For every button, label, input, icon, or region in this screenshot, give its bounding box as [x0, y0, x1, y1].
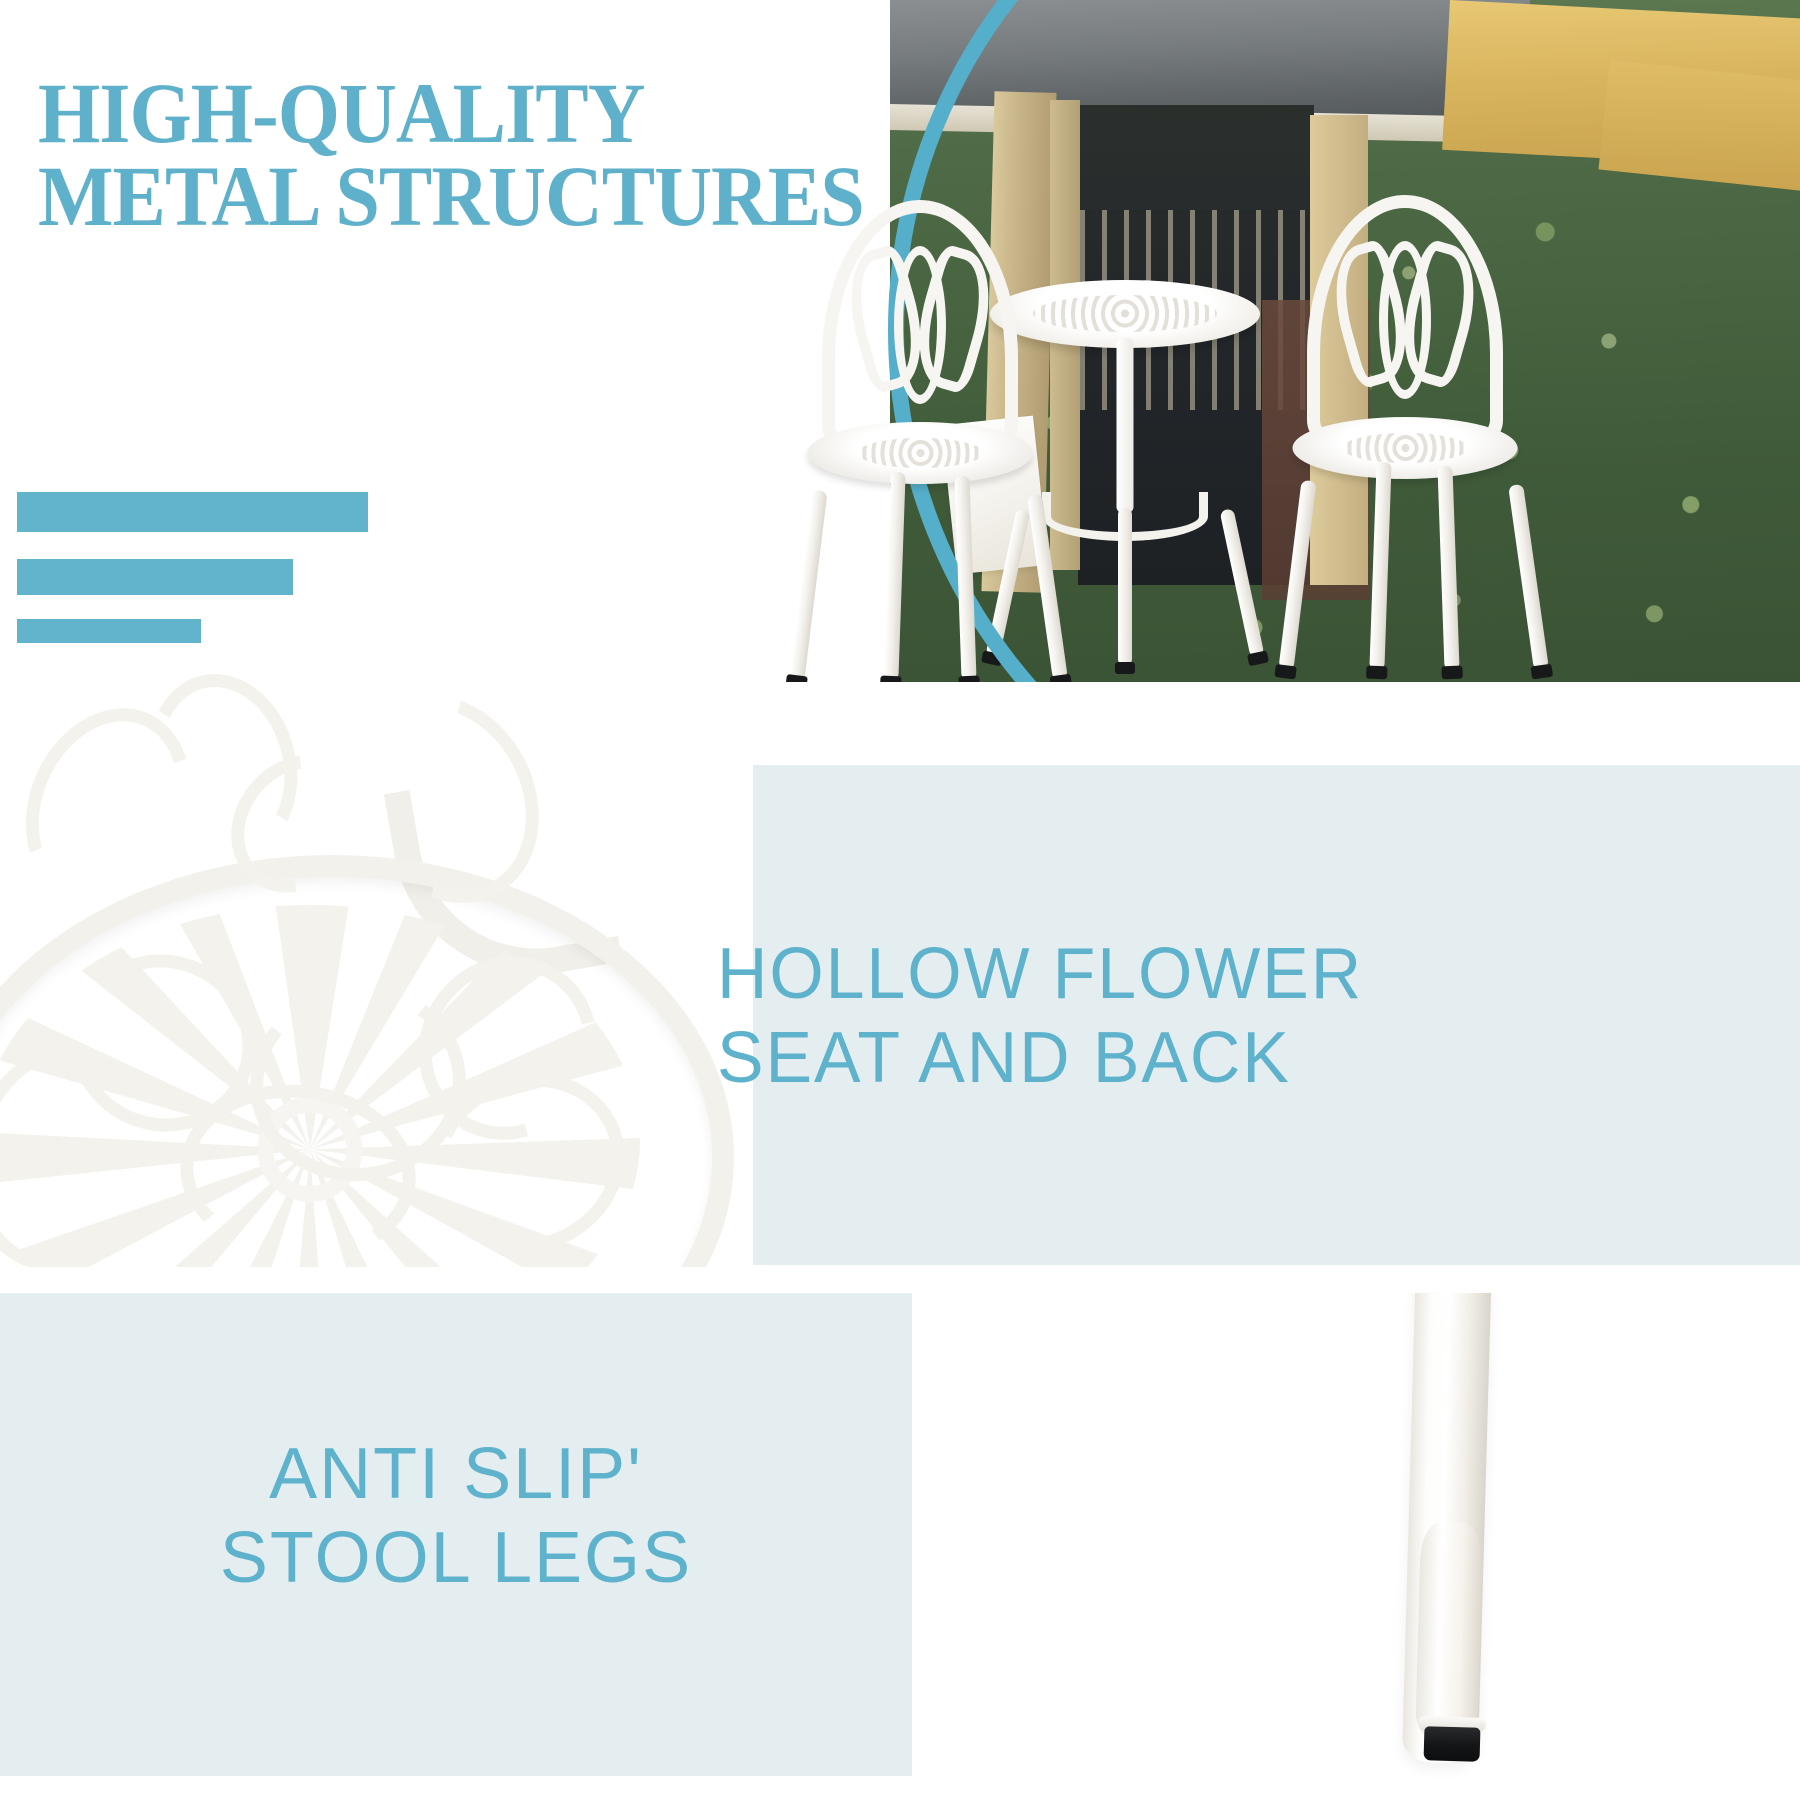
bottom-text-panel: ANTI SLIP' STOOL LEGS: [0, 1293, 912, 1776]
scrollwork-artwork: [0, 655, 756, 1267]
middle-feature-section: HOLLOW FLOWER SEAT AND BACK: [0, 765, 1800, 1265]
anti-slip-leg-closeup: [912, 1293, 1800, 1800]
decor-bar-long: [17, 492, 368, 532]
top-feature-section: HIGH-QUALITY METAL STRUCTURES: [0, 0, 1800, 682]
decor-bar-medium: [17, 559, 293, 595]
anti-slip-foot-cap: [1424, 1726, 1481, 1762]
chair-backrest-scroll: [894, 246, 946, 404]
stool-leg-taper: [1415, 1522, 1483, 1744]
chair-leg: [954, 476, 976, 680]
bottom-headline: ANTI SLIP' STOOL LEGS: [0, 1433, 912, 1600]
decorative-bar-group: [17, 492, 437, 643]
bottom-feature-section: ANTI SLIP' STOOL LEGS: [0, 1293, 1800, 1800]
chair-leg: [790, 490, 828, 680]
middle-headline: HOLLOW FLOWER SEAT AND BACK: [717, 933, 1784, 1100]
chair-leg: [1027, 494, 1068, 680]
middle-text-panel: HOLLOW FLOWER SEAT AND BACK: [753, 765, 1800, 1265]
infographic-page: HIGH-QUALITY METAL STRUCTURES: [0, 0, 1800, 1800]
bistro-chair-left: [755, 200, 1085, 680]
top-headline: HIGH-QUALITY METAL STRUCTURES: [38, 72, 875, 237]
hollow-flower-seat-closeup: [0, 655, 756, 1267]
chair-seat: [808, 422, 1033, 484]
chair-leg: [883, 472, 905, 680]
decor-bar-short: [17, 619, 201, 643]
